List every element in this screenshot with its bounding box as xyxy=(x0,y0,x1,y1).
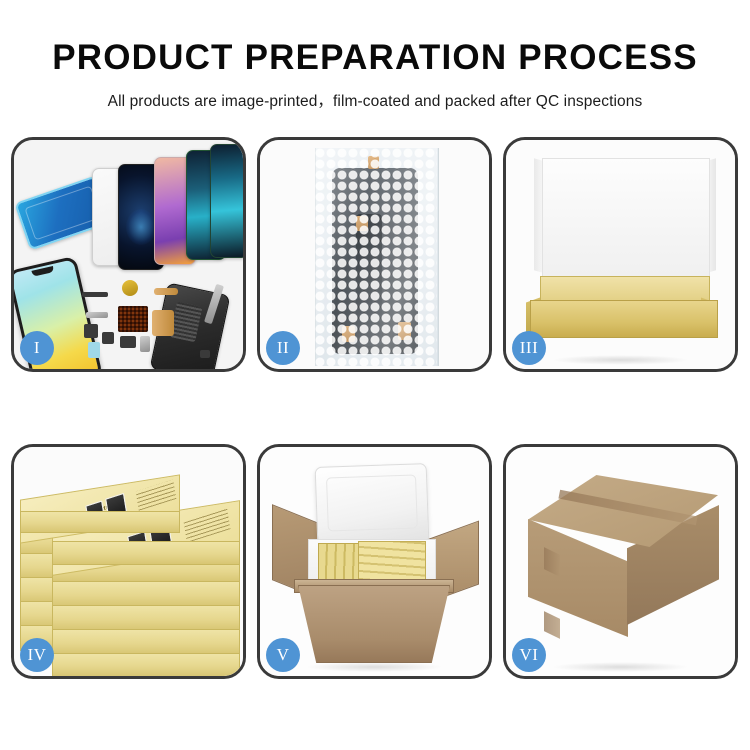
page-title: PRODUCT PREPARATION PROCESS xyxy=(0,40,750,75)
metal-bracket xyxy=(86,312,108,318)
stack-box-r3 xyxy=(52,605,240,631)
step-badge-5: V xyxy=(266,638,300,672)
box-tray-front xyxy=(530,300,718,338)
battery-cell xyxy=(88,342,100,358)
carton-body xyxy=(298,585,450,663)
flex-cable-two xyxy=(152,310,174,336)
process-step-5[interactable]: V xyxy=(257,444,492,679)
step-badge-6: VI xyxy=(512,638,546,672)
small-chip-two xyxy=(102,332,114,344)
stack-box-r2 xyxy=(52,581,240,607)
flex-cable-one xyxy=(154,288,178,295)
teal-phone-two xyxy=(210,144,243,258)
carton-shadow xyxy=(306,662,443,672)
page-subtitle: All products are image-printed，film-coat… xyxy=(0,89,750,111)
box-lid-back xyxy=(542,158,710,278)
small-chip-one xyxy=(84,324,98,338)
labelled-box-front-side xyxy=(52,541,240,565)
box-spec-text-front xyxy=(184,508,231,543)
box-spec-text-back xyxy=(136,480,177,511)
labelled-box-back-side xyxy=(20,511,180,533)
camera-module xyxy=(120,336,136,348)
step-badge-1: I xyxy=(20,331,54,365)
process-step-3[interactable]: III xyxy=(503,137,738,372)
foam-lid xyxy=(315,463,430,547)
process-step-4[interactable]: Mobile Phone Spare Parts Mobile Phone Sp… xyxy=(11,444,246,679)
process-step-2[interactable]: II xyxy=(257,137,492,372)
box-shadow xyxy=(552,355,689,365)
step-badge-4: IV xyxy=(20,638,54,672)
box-stack-scene: Mobile Phone Spare Parts Mobile Phone Sp… xyxy=(18,461,242,669)
screw-set xyxy=(200,350,210,358)
chip-grid-part xyxy=(118,306,148,332)
seal-tape-left-lower xyxy=(544,611,560,639)
gold-coil-part xyxy=(122,280,138,296)
process-step-1[interactable]: I xyxy=(11,137,246,372)
header: PRODUCT PREPARATION PROCESS All products… xyxy=(0,0,750,111)
step-badge-3: III xyxy=(512,331,546,365)
sim-tray xyxy=(140,336,150,352)
plastic-sheen xyxy=(315,148,437,366)
step-badge-2: II xyxy=(266,331,300,365)
process-step-grid: I II xyxy=(11,137,739,679)
stack-box-r5 xyxy=(52,653,240,676)
process-step-6[interactable]: VI xyxy=(503,444,738,679)
earpiece-speaker xyxy=(82,292,108,297)
sealed-carton-shadow xyxy=(552,662,689,672)
stack-box-r4 xyxy=(52,629,240,655)
